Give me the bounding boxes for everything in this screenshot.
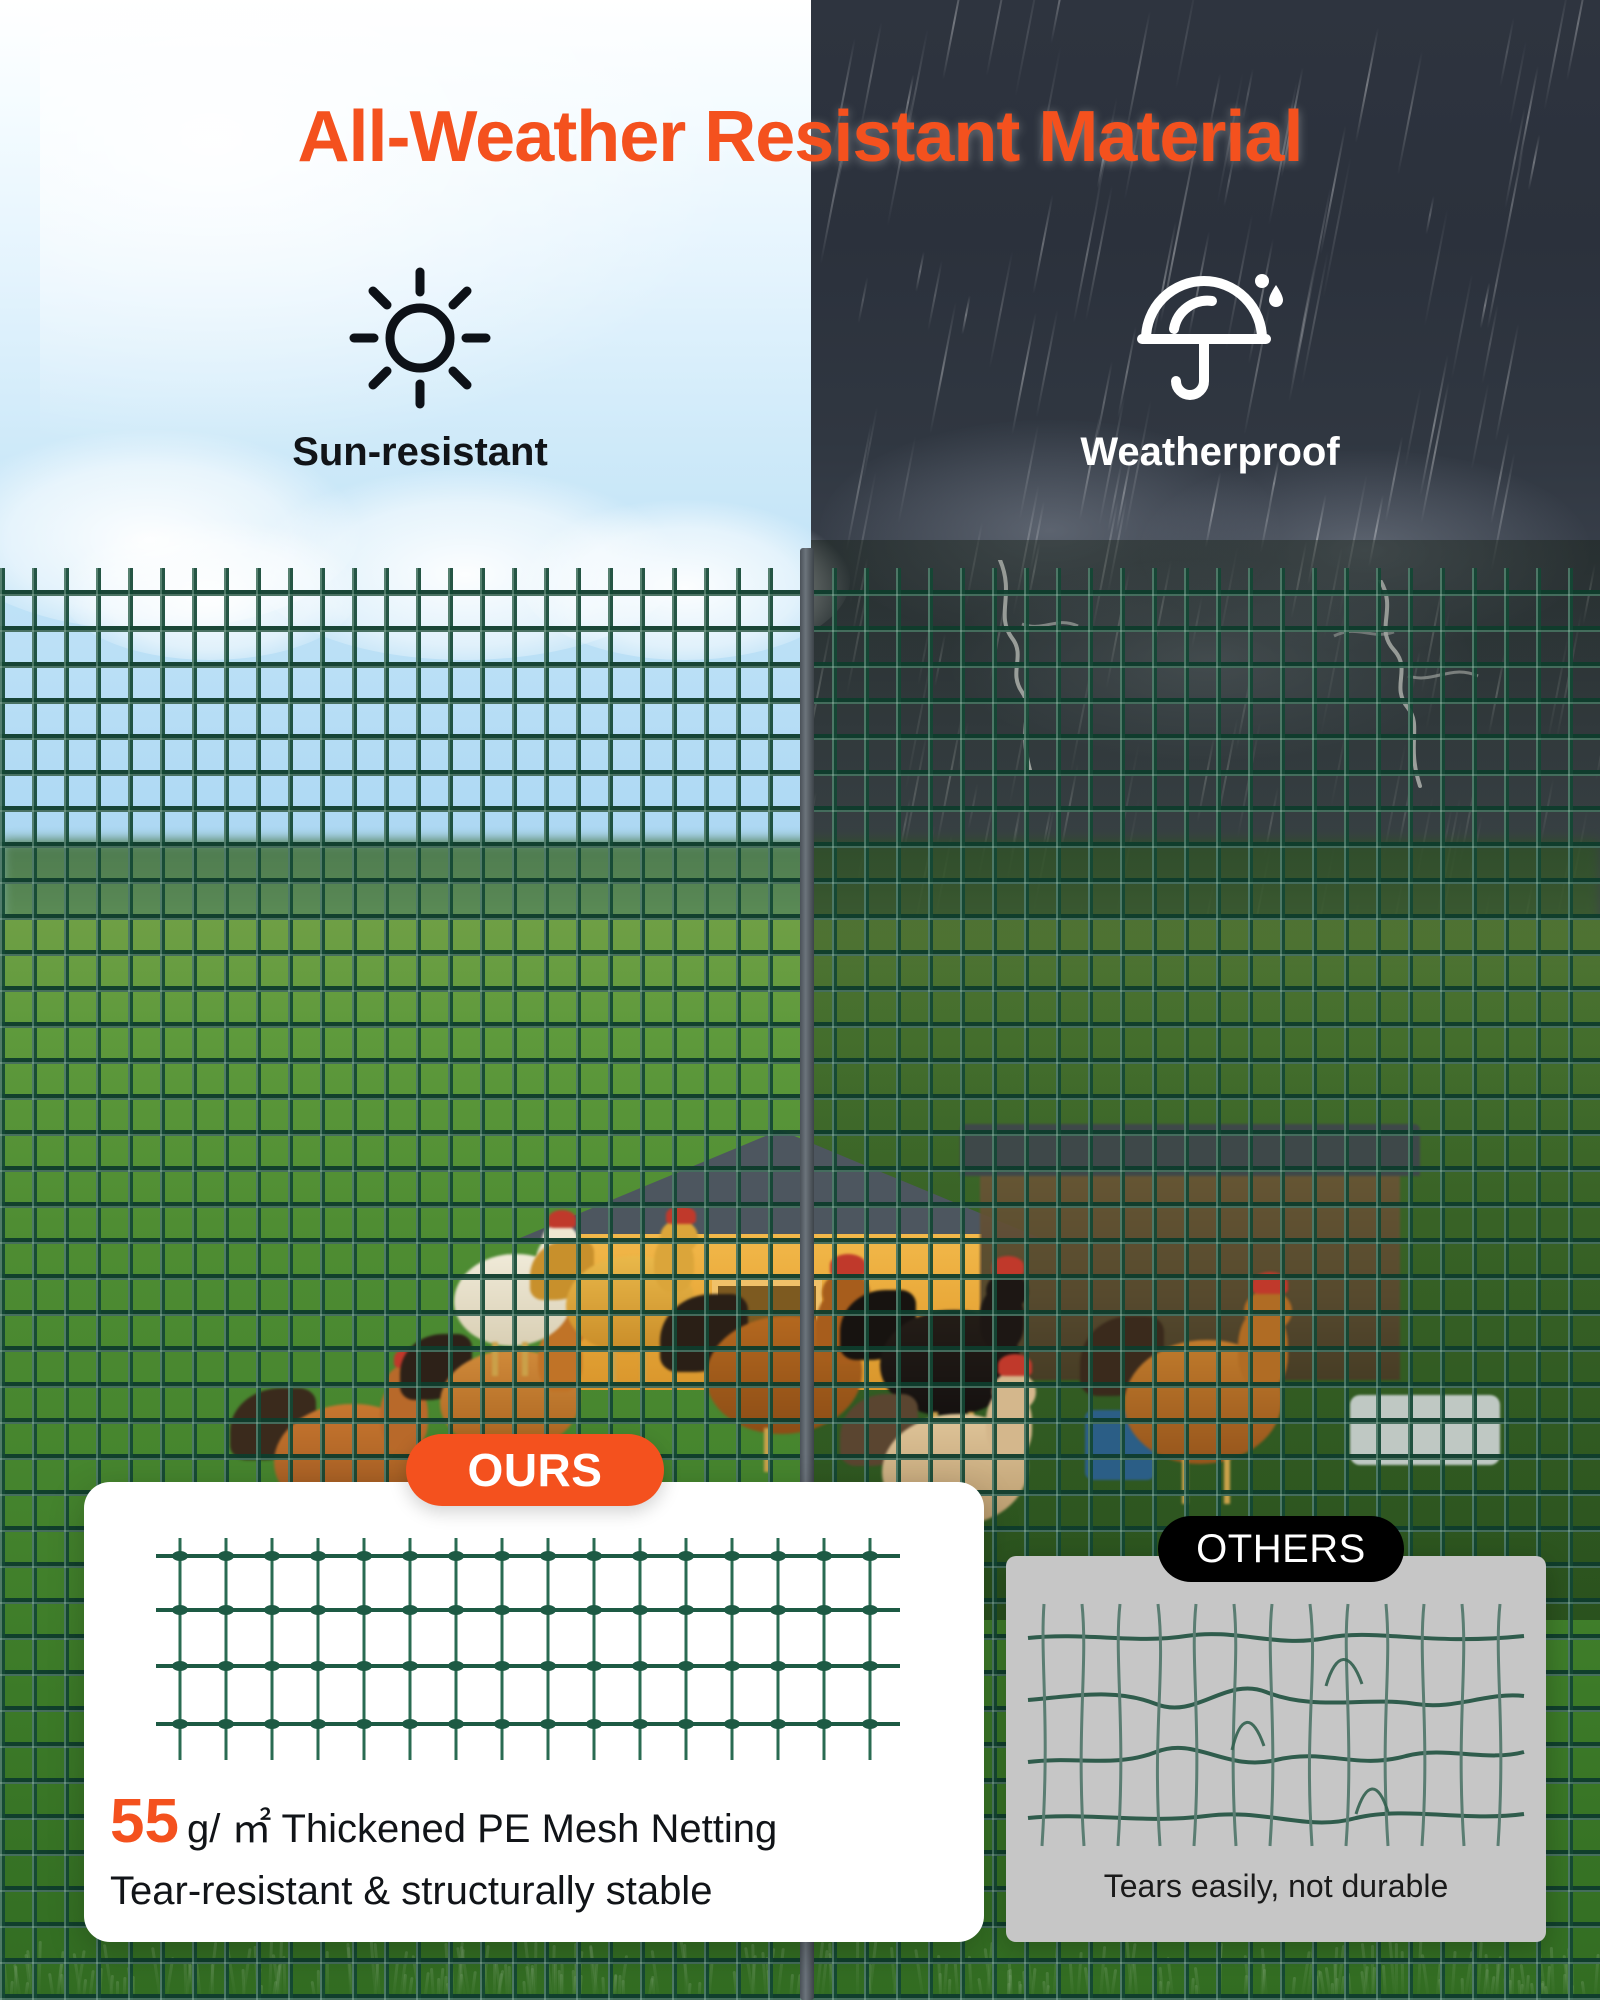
weight-unit: g/ ㎡: [187, 1807, 271, 1851]
page-title: All-Weather Resistant Material: [0, 96, 1600, 178]
ours-badge: OURS: [406, 1434, 664, 1506]
ours-mesh-sample: [152, 1538, 904, 1760]
others-mesh-sample: [1026, 1600, 1526, 1850]
feature-label: Weatherproof: [1000, 430, 1420, 474]
chicken: [1080, 1300, 1310, 1510]
ours-subtext: Tear-resistant & structurally stable: [110, 1869, 960, 1914]
weight-description: Thickened PE Mesh Netting: [281, 1807, 777, 1851]
ours-weight-line: 55g/ ㎡Thickened PE Mesh Netting: [110, 1786, 960, 1857]
umbrella-rain-icon: [1000, 262, 1420, 414]
ours-spec-text: 55g/ ㎡Thickened PE Mesh Netting Tear-res…: [110, 1786, 960, 1914]
feature-weatherproof: Weatherproof: [1000, 262, 1420, 474]
product-feature-poster: All-Weather Resistant Material Sun-resis…: [0, 0, 1600, 2000]
weight-value: 55: [110, 1787, 179, 1856]
others-subtext: Tears easily, not durable: [1006, 1868, 1546, 1905]
sun-icon: [210, 262, 630, 414]
feature-label: Sun-resistant: [210, 430, 630, 474]
feature-sun-resistant: Sun-resistant: [210, 262, 630, 474]
others-badge: OTHERS: [1158, 1516, 1404, 1582]
